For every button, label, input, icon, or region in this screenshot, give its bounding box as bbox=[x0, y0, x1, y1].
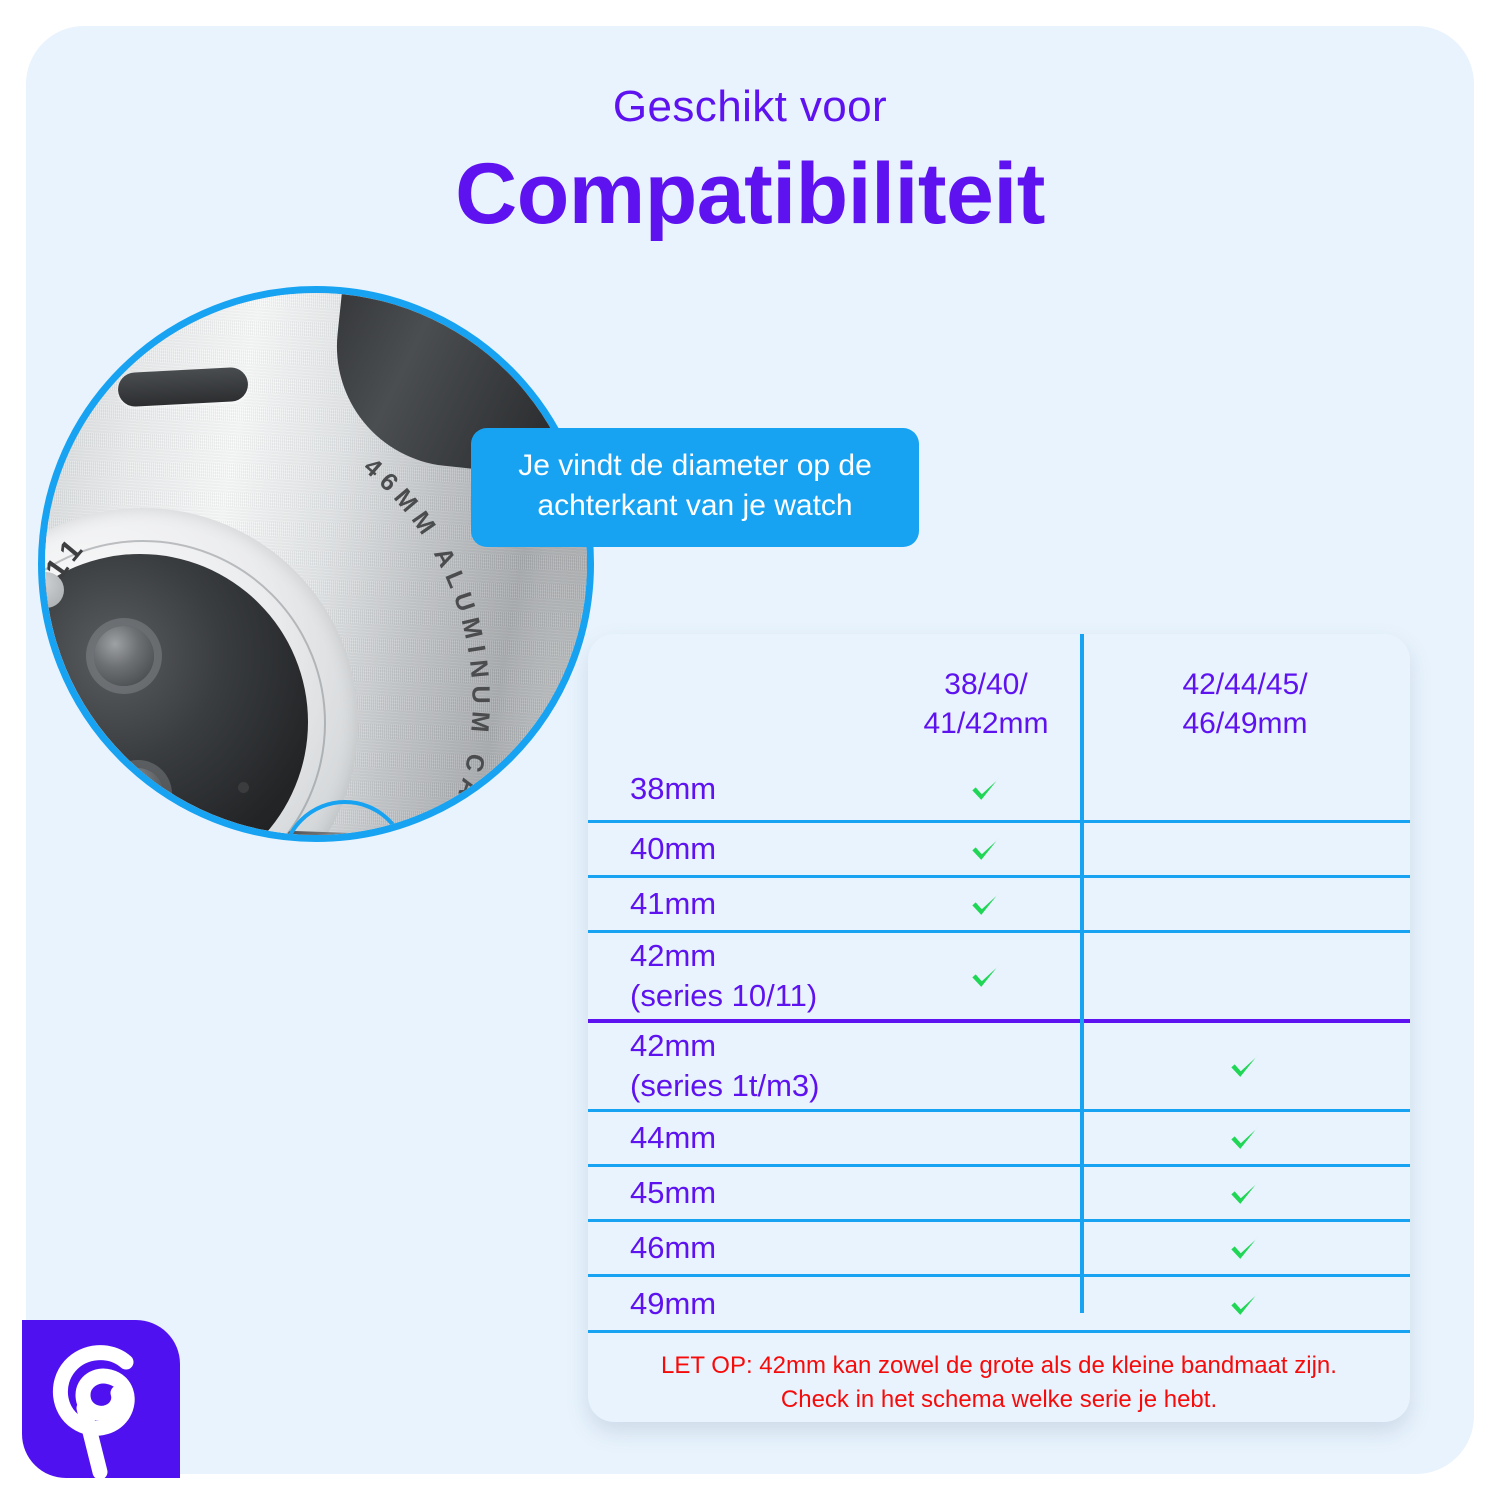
compatibility-table: 38/40/ 41/42mm 42/44/45/ 46/49mm 38mm 40… bbox=[588, 634, 1410, 1422]
cell-small bbox=[892, 955, 1080, 997]
table-row: 41mm bbox=[588, 875, 1410, 930]
table-row: 44mm bbox=[588, 1109, 1410, 1164]
cell-large bbox=[1080, 1117, 1410, 1159]
check-icon bbox=[965, 768, 1007, 810]
column-divider bbox=[1080, 634, 1084, 1313]
cell-small bbox=[892, 768, 1080, 810]
cell-large bbox=[1080, 1283, 1410, 1325]
poster-root: Geschikt voor Compatibiliteit bbox=[0, 0, 1500, 1500]
table-row: 38mm bbox=[588, 758, 1410, 820]
row-label: 38mm bbox=[588, 769, 892, 809]
header-spacer bbox=[588, 634, 892, 758]
check-icon bbox=[1224, 1172, 1266, 1214]
diameter-tooltip: Je vindt de diameter op de achterkant va… bbox=[471, 428, 919, 547]
cell-large bbox=[1080, 1172, 1410, 1214]
column-header-large: 42/44/45/ 46/49mm bbox=[1080, 634, 1410, 758]
table-row: 49mm bbox=[588, 1274, 1410, 1330]
row-label: 49mm bbox=[588, 1284, 892, 1324]
cell-small bbox=[892, 828, 1080, 870]
row-label: 41mm bbox=[588, 884, 892, 924]
row-label: 46mm bbox=[588, 1228, 892, 1268]
table-header-row: 38/40/ 41/42mm 42/44/45/ 46/49mm bbox=[588, 634, 1410, 758]
table-row: 42mm (series 1t/m3) bbox=[588, 1019, 1410, 1109]
table-row: 42mm (series 10/11) bbox=[588, 930, 1410, 1019]
header-eyebrow: Geschikt voor bbox=[0, 82, 1500, 133]
check-icon bbox=[1224, 1283, 1266, 1325]
sensor-lens bbox=[94, 626, 154, 686]
row-label: 42mm (series 10/11) bbox=[588, 936, 892, 1015]
table-note: LET OP: 42mm kan zowel de grote als de k… bbox=[588, 1330, 1410, 1417]
row-label: 45mm bbox=[588, 1173, 892, 1213]
cell-small bbox=[892, 883, 1080, 925]
header: Geschikt voor Compatibiliteit bbox=[0, 82, 1500, 239]
table-row: 46mm bbox=[588, 1219, 1410, 1274]
check-icon bbox=[1224, 1045, 1266, 1087]
table-row: 45mm bbox=[588, 1164, 1410, 1219]
page-title: Compatibiliteit bbox=[0, 149, 1500, 239]
engraving-dot bbox=[238, 782, 249, 793]
check-icon bbox=[1224, 1117, 1266, 1159]
row-label: 40mm bbox=[588, 829, 892, 869]
speaker-slot bbox=[117, 367, 249, 408]
cell-large bbox=[1080, 1045, 1410, 1087]
brand-logo bbox=[22, 1320, 180, 1478]
column-header-small: 38/40/ 41/42mm bbox=[892, 634, 1080, 758]
check-icon bbox=[965, 955, 1007, 997]
sensor-lens bbox=[38, 722, 84, 768]
check-icon bbox=[965, 883, 1007, 925]
sensor-dot bbox=[38, 572, 64, 608]
row-label: 42mm (series 1t/m3) bbox=[588, 1026, 892, 1105]
cell-large bbox=[1080, 1227, 1410, 1269]
brand-logo-glyph bbox=[22, 1320, 180, 1478]
sensor-lens bbox=[112, 768, 164, 820]
row-label: 44mm bbox=[588, 1118, 892, 1158]
check-icon bbox=[1224, 1227, 1266, 1269]
watch-photo: SERIES 11 46MM ALUMINUM CA bbox=[38, 286, 594, 842]
check-icon bbox=[965, 828, 1007, 870]
watch-photo-circle: SERIES 11 46MM ALUMINUM CA bbox=[38, 286, 594, 842]
table-row: 40mm bbox=[588, 820, 1410, 875]
